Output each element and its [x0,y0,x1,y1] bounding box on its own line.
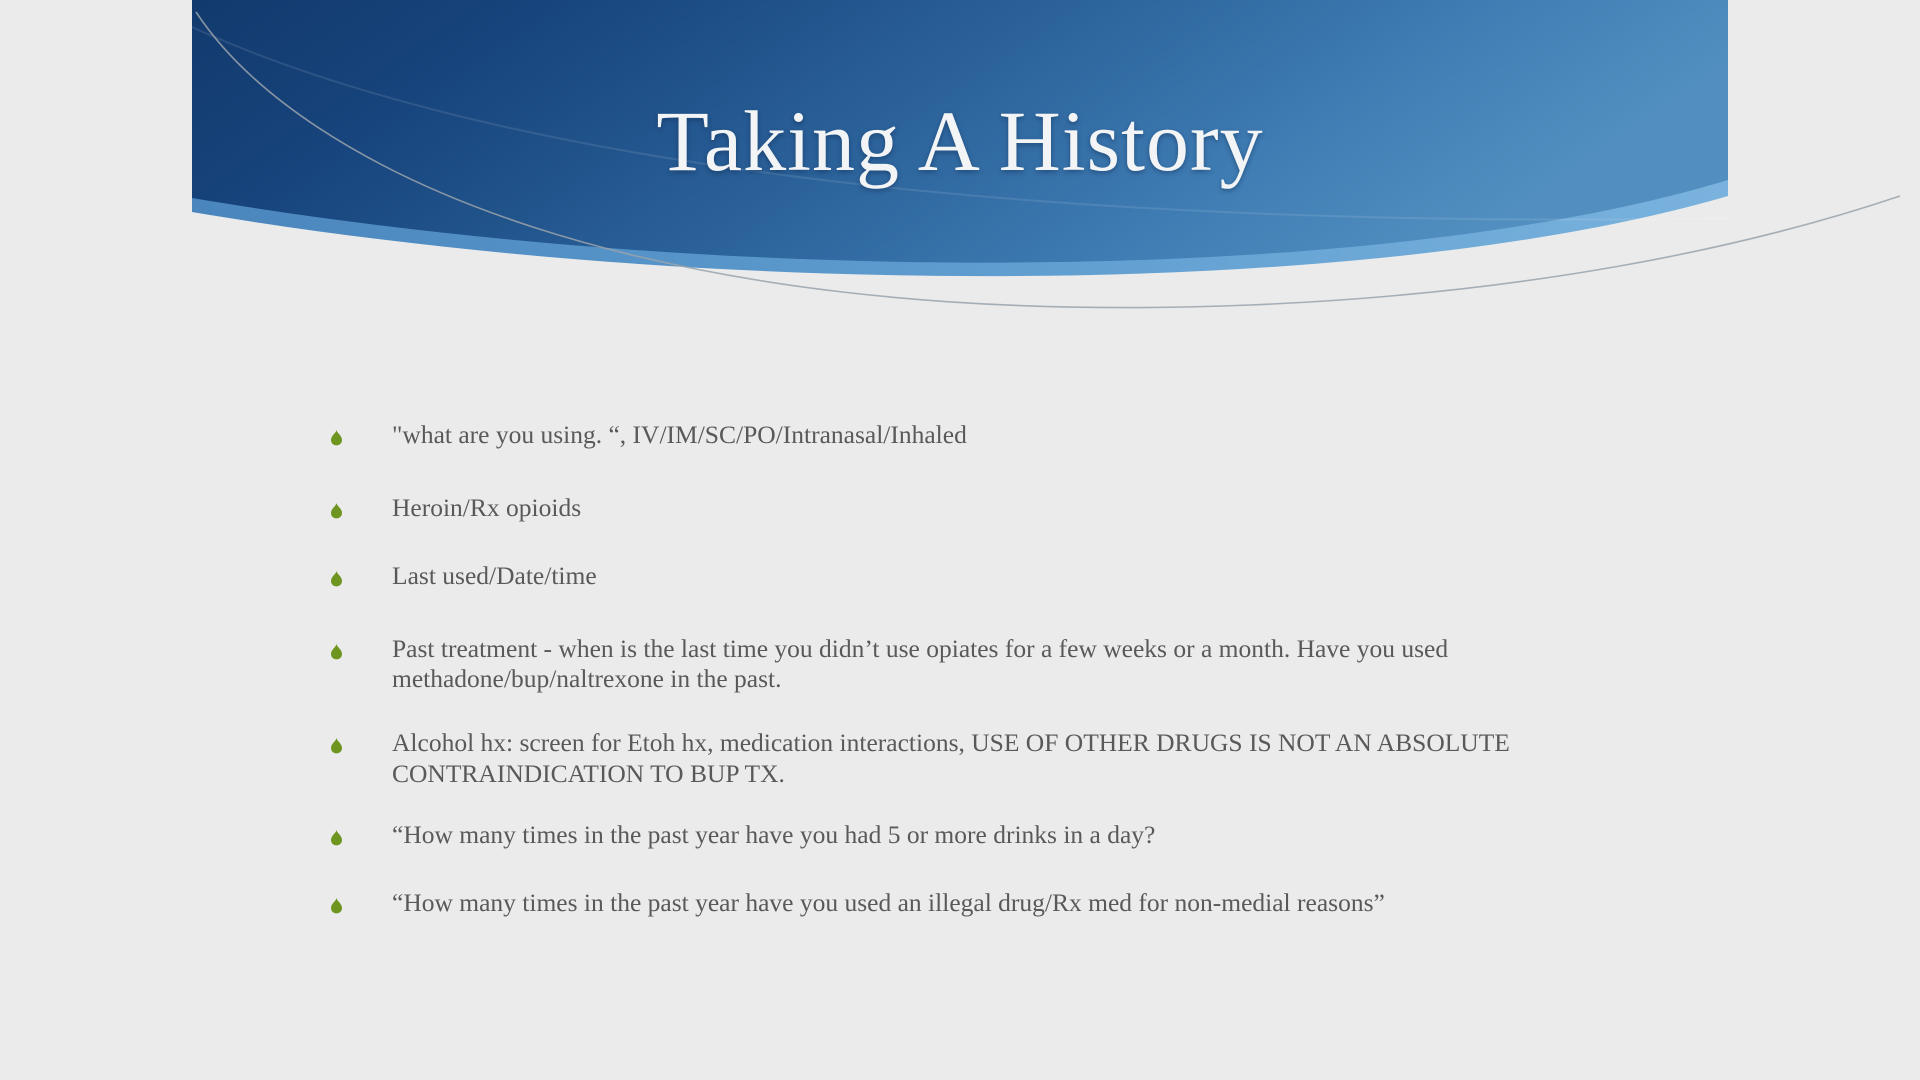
list-item-text: “How many times in the past year have yo… [392,888,1626,919]
list-item: Past treatment - when is the last time y… [326,634,1626,695]
list-item: “How many times in the past year have yo… [326,888,1626,919]
list-item-text: “How many times in the past year have yo… [392,820,1626,851]
decorative-arc-line [0,0,1920,420]
page-title: Taking A History [192,96,1728,186]
list-item-text: Last used/Date/time [392,561,1626,592]
teardrop-bullet-icon [330,897,343,914]
teardrop-bullet-icon [330,643,343,660]
list-item: Last used/Date/time [326,561,1626,592]
list-item: "what are you using. “, IV/IM/SC/PO/Intr… [326,420,1626,451]
teardrop-bullet-icon [330,829,343,846]
teardrop-bullet-icon [330,502,343,519]
teardrop-bullet-icon [330,737,343,754]
teardrop-bullet-icon [330,429,343,446]
list-item: “How many times in the past year have yo… [326,820,1626,851]
list-item-text: "what are you using. “, IV/IM/SC/PO/Intr… [392,420,1626,451]
list-item-text: Heroin/Rx opioids [392,493,1626,524]
teardrop-bullet-icon [330,570,343,587]
list-item-text: Alcohol hx: screen for Etoh hx, medicati… [392,728,1626,789]
presentation-slide: Taking A History "what are you using. “,… [0,0,1920,1080]
list-item: Heroin/Rx opioids [326,493,1626,524]
list-item-text: Past treatment - when is the last time y… [392,634,1626,695]
bullet-list: "what are you using. “, IV/IM/SC/PO/Intr… [326,420,1626,918]
list-item: Alcohol hx: screen for Etoh hx, medicati… [326,728,1626,789]
